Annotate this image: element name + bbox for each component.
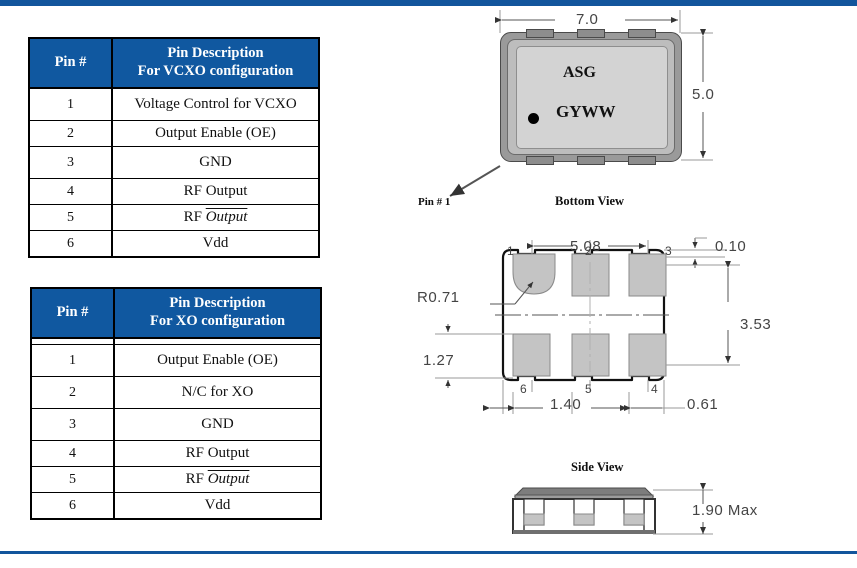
- side-view-drawing: [395, 478, 857, 568]
- table-row: 4 RF Output: [29, 179, 319, 205]
- dim-side-height: 1.90 Max: [692, 502, 758, 519]
- cell-desc-overline: Output: [208, 471, 250, 487]
- table-header-row: Pin # Pin Description For XO configurati…: [31, 288, 321, 338]
- header-pin-number: Pin #: [31, 288, 114, 338]
- dim-package-height: 5.0: [692, 86, 714, 103]
- cell-desc-text: RF: [186, 471, 208, 487]
- pin1-label: Pin # 1: [418, 196, 450, 208]
- table-row: 6 Vdd: [29, 231, 319, 258]
- cell-desc: Vdd: [112, 231, 319, 258]
- cell-pin: 4: [31, 441, 114, 467]
- dim-pad-pitch: 1.40: [550, 396, 581, 413]
- header-line-2: For XO configuration: [117, 313, 318, 331]
- cell-pin: 1: [31, 345, 114, 377]
- cell-desc: GND: [114, 409, 321, 441]
- cell-desc-text: RF: [184, 209, 206, 225]
- cell-desc: RF Output: [114, 467, 321, 493]
- cell-desc: N/C for XO: [114, 377, 321, 409]
- cell-desc: RF Output: [112, 179, 319, 205]
- cell-desc: Vdd: [114, 493, 321, 520]
- dim-pad-gap: 0.10: [715, 238, 746, 255]
- pin-table-vcxo: Pin # Pin Description For VCXO configura…: [28, 37, 320, 258]
- pad-layout-drawing: [395, 232, 857, 432]
- header-pin-description: Pin Description For VCXO configuration: [112, 38, 319, 88]
- table-row: 5 RF Output: [29, 205, 319, 231]
- cell-pin: 4: [29, 179, 112, 205]
- table-row: 3 GND: [31, 409, 321, 441]
- dim-pad-height: 3.53: [740, 316, 771, 333]
- cell-pin: 5: [31, 467, 114, 493]
- pin-table-xo: Pin # Pin Description For XO configurati…: [30, 287, 322, 520]
- cell-pin: 3: [29, 147, 112, 179]
- pad-number-3: 3: [665, 244, 672, 258]
- header-line-1: Pin Description: [117, 295, 318, 313]
- table-row: 2 Output Enable (OE): [29, 121, 319, 147]
- caption-side-view: Side View: [571, 460, 623, 475]
- cell-desc: RF Output: [114, 441, 321, 467]
- caption-bottom-view: Bottom View: [555, 194, 624, 209]
- pad-number-4: 4: [651, 382, 658, 396]
- table-row: 5 RF Output: [31, 467, 321, 493]
- bottom-view-dimension-lines: [395, 0, 857, 230]
- table-row: 4 RF Output: [31, 441, 321, 467]
- cell-desc: Output Enable (OE): [112, 121, 319, 147]
- table-row: 3 GND: [29, 147, 319, 179]
- table-row: 1 Output Enable (OE): [31, 345, 321, 377]
- header-line-2: For VCXO configuration: [115, 63, 316, 81]
- cell-desc: RF Output: [112, 205, 319, 231]
- cell-pin: 6: [31, 493, 114, 520]
- pad-number-5: 5: [585, 382, 592, 396]
- table-row: 1 Voltage Control for VCXO: [29, 88, 319, 121]
- mechanical-drawings: ASG GYWW: [395, 0, 857, 551]
- pad-number-2: 2: [585, 244, 592, 258]
- dim-pad-edge: 0.61: [687, 396, 718, 413]
- cell-pin: 2: [29, 121, 112, 147]
- cell-pin: 3: [31, 409, 114, 441]
- pad-number-6: 6: [520, 382, 527, 396]
- table-row: 6 Vdd: [31, 493, 321, 520]
- cell-pin: 1: [29, 88, 112, 121]
- header-pin-description: Pin Description For XO configuration: [114, 288, 321, 338]
- cell-pin: 6: [29, 231, 112, 258]
- table-row: 2 N/C for XO: [31, 377, 321, 409]
- header-pin-number: Pin #: [29, 38, 112, 88]
- cell-desc: Output Enable (OE): [114, 345, 321, 377]
- dim-corner-radius: R0.71: [417, 289, 460, 306]
- datasheet-page: Pin # Pin Description For VCXO configura…: [0, 0, 857, 567]
- dim-package-width: 7.0: [576, 11, 598, 28]
- header-line-1: Pin Description: [115, 45, 316, 63]
- dim-pad-size: 1.27: [423, 352, 454, 369]
- cell-desc: GND: [112, 147, 319, 179]
- cell-pin: 5: [29, 205, 112, 231]
- pad-number-1: 1: [507, 244, 514, 258]
- cell-desc: Voltage Control for VCXO: [112, 88, 319, 121]
- cell-pin: 2: [31, 377, 114, 409]
- cell-desc-overline: Output: [206, 209, 248, 225]
- table-header-row: Pin # Pin Description For VCXO configura…: [29, 38, 319, 88]
